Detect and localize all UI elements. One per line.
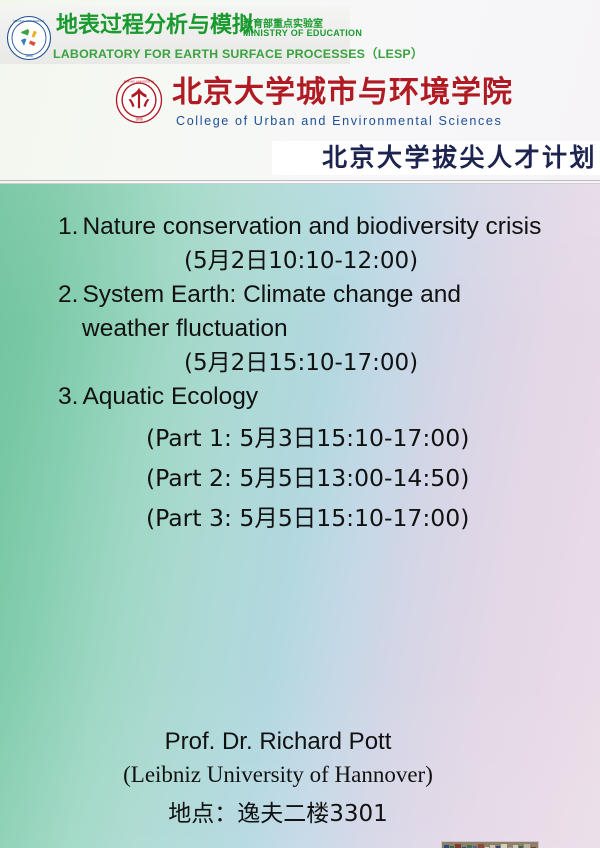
svg-text:PEKING UNIVERSITY: PEKING UNIVERSITY	[124, 80, 154, 84]
lecture-list: 1.Nature conservation and biodiversity c…	[0, 210, 600, 538]
lecture-1-title-row: 1.Nature conservation and biodiversity c…	[58, 210, 600, 244]
program-title: 北京大学拔尖人才计划	[322, 141, 600, 175]
list-item: 1.Nature conservation and biodiversity c…	[0, 210, 600, 278]
svg-text:1898: 1898	[25, 54, 33, 58]
poster-header: PEKING UNIVERSITY 1898 地表过程分析与模拟 教育部重点实验…	[0, 0, 600, 184]
poster-root: PEKING UNIVERSITY 1898 地表过程分析与模拟 教育部重点实验…	[0, 0, 600, 848]
poster-body: 1.Nature conservation and biodiversity c…	[0, 184, 600, 848]
lecture-3-part-3: (Part 3: 5月5日15:10-17:00)	[146, 498, 600, 538]
list-item: 3.Aquatic Ecology (Part 1: 5月3日15:10-17:…	[0, 380, 600, 538]
lecture-2-number: 2.	[58, 281, 78, 308]
ministry-en-label: MINISTRY OF EDUCATION	[243, 28, 362, 38]
lecture-2-time: (5月2日15:10-17:00)	[184, 346, 600, 380]
lab-en-title: LABORATORY FOR EARTH SURFACE PROCESSES（L…	[53, 44, 423, 62]
lecture-3-title: Aquatic Ecology	[82, 383, 258, 410]
lesp-banner: PEKING UNIVERSITY 1898 地表过程分析与模拟 教育部重点实验…	[0, 6, 350, 64]
college-cn-title: 北京大学城市与环境学院	[172, 76, 513, 110]
speaker-portrait-photo	[441, 841, 539, 848]
venue-label: 地点：逸夫二楼3301	[0, 794, 600, 828]
lecture-2-title-row: 2.System Earth: Climate change and	[58, 278, 600, 312]
lecture-3-part-2: (Part 2: 5月5日13:00-14:50)	[146, 458, 600, 498]
lecture-3-part-1: (Part 1: 5月3日15:10-17:00)	[146, 418, 600, 458]
list-item: 2.System Earth: Climate change and weath…	[0, 278, 600, 380]
college-en-title: College of Urban and Environmental Scien…	[176, 114, 502, 128]
lecture-1-time: (5月2日10:10-12:00)	[184, 244, 600, 278]
lecture-3-number: 3.	[58, 383, 78, 410]
svg-text:PEKING UNIVERSITY: PEKING UNIVERSITY	[13, 19, 44, 23]
lecture-1-number: 1.	[58, 213, 78, 240]
speaker-name: Prof. Dr. Richard Pott	[0, 728, 600, 756]
lecture-2-title: System Earth: Climate change and	[82, 281, 461, 308]
speaker-affiliation: (Leibniz University of Hannover)	[0, 762, 600, 788]
header-divider	[0, 180, 600, 181]
lab-cn-title: 地表过程分析与模拟	[56, 14, 254, 38]
svg-text:1898: 1898	[135, 117, 143, 121]
lecture-1-title: Nature conservation and biodiversity cri…	[82, 213, 541, 240]
college-seal-icon: PEKING UNIVERSITY 1898	[115, 76, 163, 124]
lecture-2-title-cont: weather fluctuation	[82, 312, 600, 346]
lecture-3-title-row: 3.Aquatic Ecology	[58, 380, 600, 414]
peking-university-seal-icon: PEKING UNIVERSITY 1898	[6, 15, 52, 61]
